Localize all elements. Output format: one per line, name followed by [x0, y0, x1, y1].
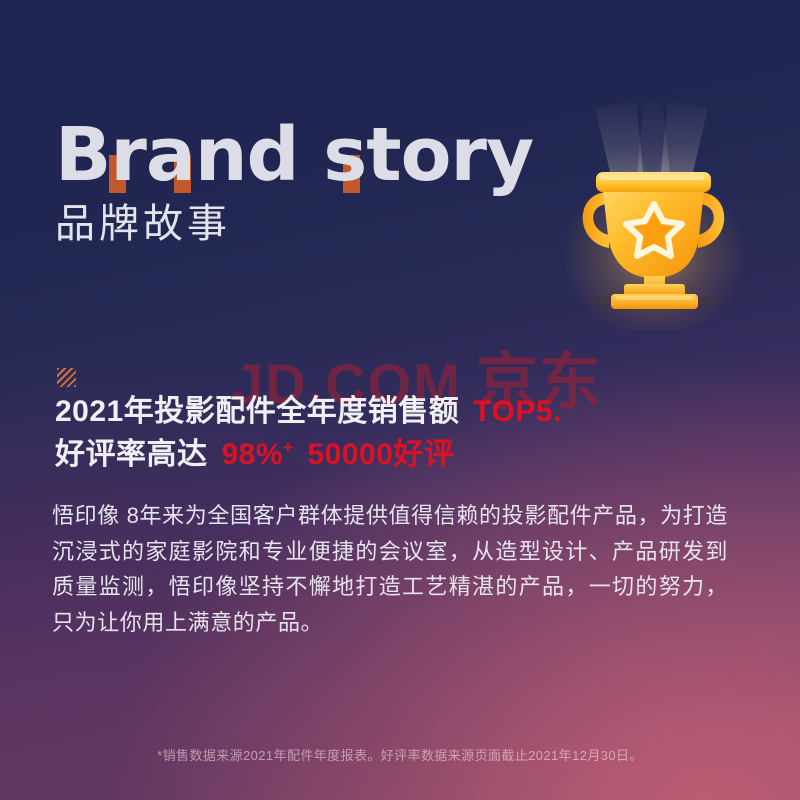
claim-top-rank: TOP5.	[473, 395, 562, 428]
sales-claim-block: 2021年投影配件全年度销售额TOP5. 好评率高达98%+50000好评	[55, 391, 562, 476]
page-title: Brand story	[55, 118, 533, 192]
page-subtitle: 品牌故事	[55, 200, 533, 248]
brand-story-paragraph: 悟印像 8年来为全国客户群体提供值得信赖的投影配件产品，为打造沉浸式的家庭影院和…	[52, 498, 728, 641]
heading-block: Brand story 品牌故事	[55, 118, 533, 248]
data-source-footnote: *销售数据来源2021年配件年度报表。好评率数据来源页面截止2021年12月30…	[0, 745, 800, 764]
claim-sales-text: 2021年投影配件全年度销售额	[55, 395, 459, 428]
claim-rating-plus: +	[283, 438, 293, 457]
claim-rating-prefix: 好评率高达	[55, 438, 208, 471]
brand-story-poster: JD.COM京东	[0, 0, 800, 800]
hatched-square-marker	[57, 368, 76, 387]
claim-review-count: 50000好评	[307, 438, 454, 471]
trophy-illustration	[540, 100, 770, 330]
claim-line-rating: 好评率高达98%+50000好评	[55, 434, 562, 477]
claim-rating-value: 98%	[222, 438, 284, 471]
claim-line-sales: 2021年投影配件全年度销售额TOP5.	[55, 391, 562, 434]
title-text: Brand story	[55, 118, 533, 192]
